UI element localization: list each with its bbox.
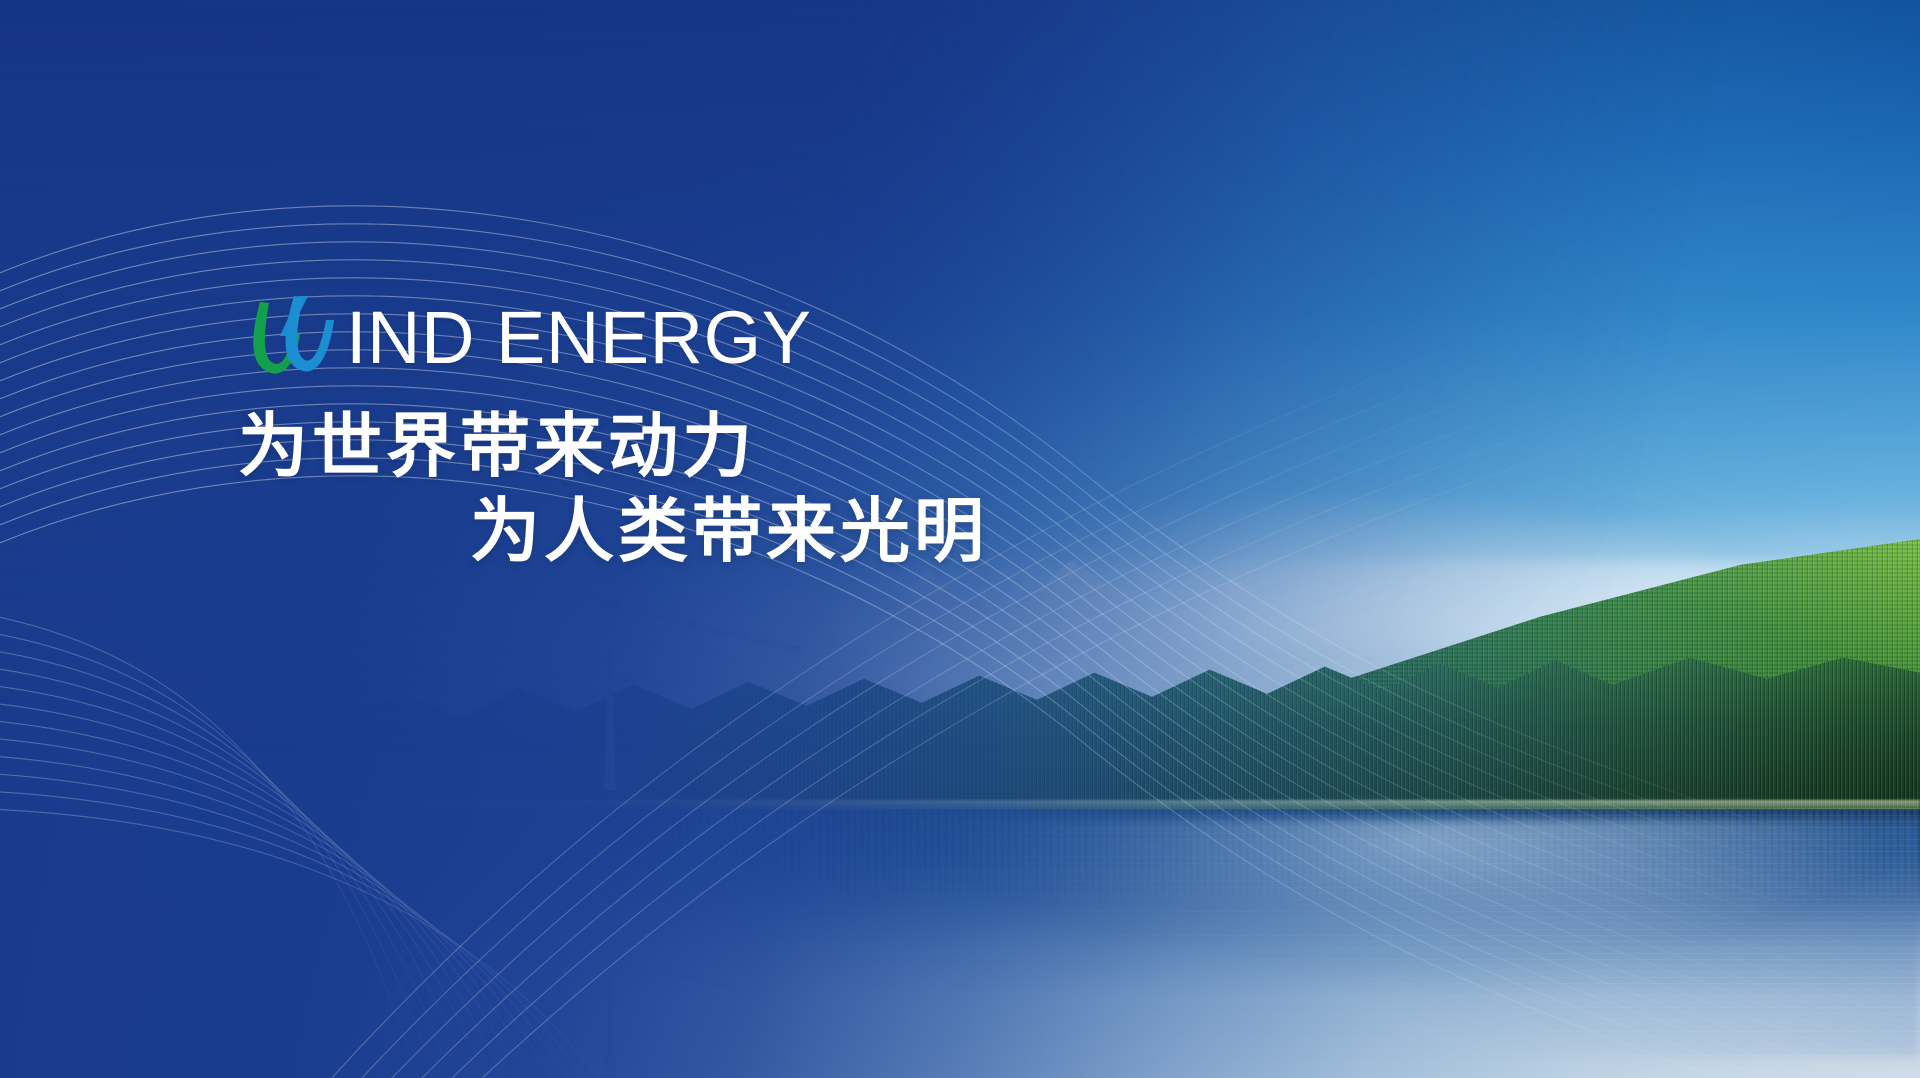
wind-w-logo-icon: [238, 286, 342, 390]
tagline-block: 为世界带来动力 为人类带来光明: [238, 404, 988, 575]
brand-lockup: IND ENERGY: [238, 290, 988, 386]
tagline-line-1: 为世界带来动力: [238, 404, 988, 489]
brand-name: IND ENERGY: [346, 301, 812, 375]
brand-block: IND ENERGY 为世界带来动力 为人类带来光明: [238, 290, 988, 575]
content-layer: IND ENERGY 为世界带来动力 为人类带来光明: [0, 0, 1920, 1078]
hero-banner: IND ENERGY 为世界带来动力 为人类带来光明: [0, 0, 1920, 1078]
tagline-line-2: 为人类带来光明: [238, 489, 988, 574]
